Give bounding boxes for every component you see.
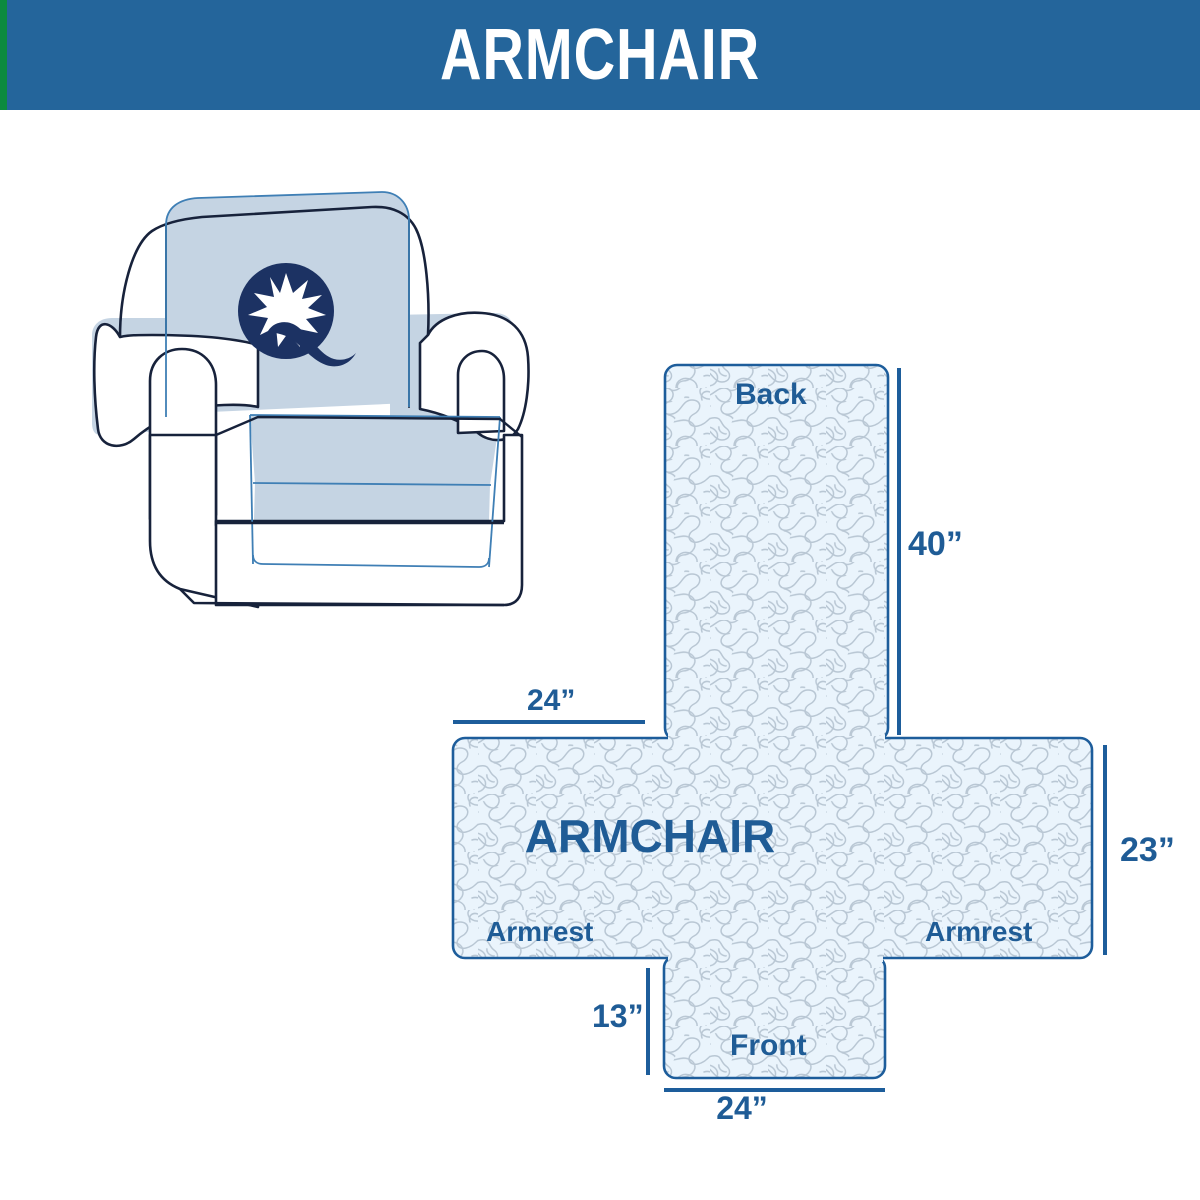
dimension-label-back-width: 24” [527, 686, 575, 716]
dimension-label-front-width: 24” [716, 1092, 768, 1124]
product-dimension-sheet: ARMCHAIR [0, 0, 1200, 1200]
dimension-label-front-height: 13” [592, 1000, 644, 1032]
panel-label-front: Front [730, 1031, 807, 1061]
slipcover-pattern-diagram [420, 330, 1200, 1130]
panel-back [665, 365, 888, 740]
diagram-center-title: ARMCHAIR [525, 813, 775, 859]
dimension-label-body-depth: 23” [1120, 833, 1175, 867]
panel-label-armrest-left: Armrest [486, 918, 593, 946]
panel-label-back: Back [735, 380, 807, 410]
page-title: ARMCHAIR [440, 19, 760, 91]
dimension-label-back-height: 40” [908, 527, 963, 561]
panel-label-armrest-right: Armrest [925, 918, 1032, 946]
page-header: ARMCHAIR [0, 0, 1200, 110]
header-accent-stripe [0, 0, 7, 110]
